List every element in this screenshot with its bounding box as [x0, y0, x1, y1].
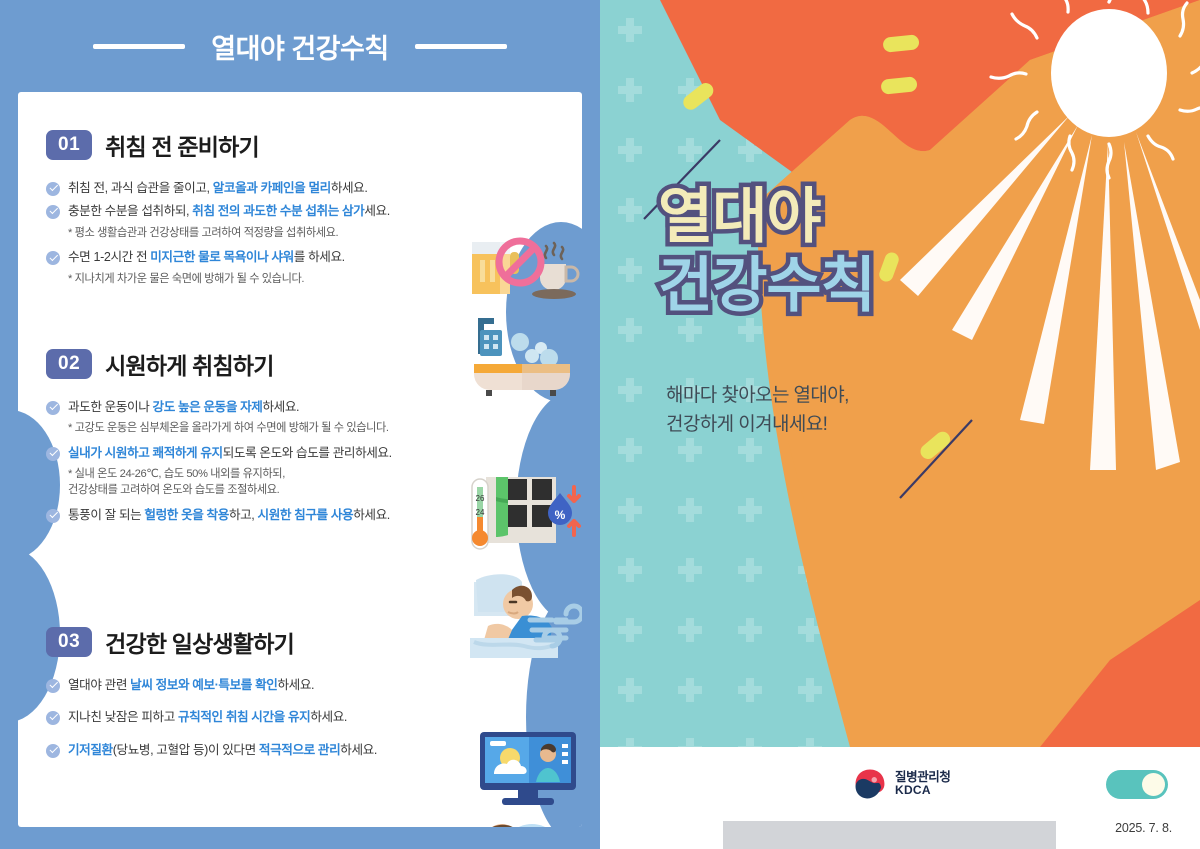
list-item: 지나친 낮잠은 피하고 규칙적인 취침 시간을 유지하세요.: [46, 708, 466, 726]
section-01-header: 01 취침 전 준비하기: [46, 128, 446, 162]
hero-subtitle: 해마다 찾아오는 열대야, 건강하게 이겨내세요!: [666, 382, 849, 439]
check-circle-icon: [46, 711, 60, 725]
agency-abbreviation: KDCA: [895, 784, 951, 797]
page-title: 열대야 건강수칙: [211, 27, 388, 66]
bullet-text-post-2: 하세요.: [340, 743, 377, 757]
bullet-strong: 강도 높은 운동을 자제: [153, 400, 263, 414]
guidelines-card: 01 취침 전 준비하기 취침 전, 과식 습관을 줄이고, 알코올과 카페인을…: [18, 92, 582, 827]
footer-gray-bar: [723, 821, 1056, 849]
thermometer-window-humidity-icon: 26 24 %: [470, 477, 582, 555]
hero-subtitle-line-2: 건강하게 이겨내세요!: [666, 411, 849, 440]
svg-text:%: %: [555, 508, 566, 522]
bullet-note: * 지나치게 차가운 물은 숙면에 방해가 될 수 있습니다.: [68, 272, 446, 288]
left-panel-header: 열대야 건강수칙: [0, 0, 600, 92]
list-item: 수면 1-2시간 전 미지근한 물로 목욕이나 샤워를 하세요.: [46, 248, 446, 266]
section-03-number: 03: [46, 627, 92, 657]
section-03-bullets: 열대야 관련 날씨 정보와 예보·특보를 확인하세요. 지나친 낮잠은 피하고 …: [46, 676, 466, 759]
hero-title-line-2: 건강수칙: [658, 254, 875, 317]
check-circle-icon: [46, 251, 60, 265]
section-02-bullets: 과도한 운동이나 강도 높은 운동을 자제하세요. * 고강도 운동은 심부체온…: [46, 398, 466, 524]
bullet-text-post: 하세요.: [263, 400, 300, 414]
bullet-text: 취침 전, 과식 습관을 줄이고,: [68, 181, 213, 195]
bullet-text-post: 하고,: [229, 508, 258, 522]
toggle-switch-on-icon[interactable]: [1106, 770, 1168, 799]
section-03-title: 건강한 일상생활하기: [105, 625, 294, 659]
section-02-title: 시원하게 취침하기: [105, 347, 273, 381]
kdca-logo-block: 질병관리청 KDCA: [853, 767, 951, 801]
list-item: 충분한 수분을 섭취하되, 취침 전의 과도한 수분 섭취는 삼가세요.: [46, 202, 446, 220]
header-dash-right-icon: [415, 44, 507, 49]
bullet-text-post: 세요.: [364, 204, 389, 218]
hero-subtitle-line-1: 해마다 찾아오는 열대야,: [666, 382, 849, 411]
section-01-title: 취침 전 준비하기: [105, 128, 259, 162]
bullet-text-post: 하세요.: [277, 678, 314, 692]
bullet-text-post: 하세요.: [310, 710, 347, 724]
bullet-strong-2: 시원한 침구를 사용: [258, 508, 354, 522]
svg-text:24: 24: [476, 508, 485, 517]
svg-text:26: 26: [476, 494, 485, 503]
section-01: 01 취침 전 준비하기 취침 전, 과식 습관을 줄이고, 알코올과 카페인을…: [46, 128, 446, 295]
header-dash-left-icon: [93, 44, 185, 49]
check-circle-icon: [46, 401, 60, 415]
check-circle-icon: [46, 509, 60, 523]
poster-root: 열대야 건강수칙 01 취침 전 준비하기 취침 전, 과식 습관을 줄이고, …: [0, 0, 1200, 849]
hero-title: 열대야 건강수칙: [658, 185, 875, 317]
bullet-text: 과도한 운동이나: [68, 400, 153, 414]
section-02-number: 02: [46, 349, 92, 379]
bullet-text: 열대야 관련: [68, 678, 130, 692]
bullet-text-post: 하세요.: [331, 181, 368, 195]
section-03-header: 03 건강한 일상생활하기: [46, 625, 466, 659]
bullet-note: * 실내 온도 24-26℃, 습도 50% 내외를 유지하되, 건강상태를 고…: [68, 467, 466, 499]
weather-broadcast-tv-icon: [480, 732, 576, 806]
section-02-header: 02 시원하게 취침하기: [46, 347, 466, 381]
bullet-text-post: 를 하세요.: [294, 250, 345, 264]
bullet-strong: 기저질환: [68, 743, 113, 757]
agency-name: 질병관리청: [895, 770, 951, 784]
bullet-text: 수면 1-2시간 전: [68, 250, 150, 264]
list-item: 통풍이 잘 되는 헐렁한 옷을 착용하고, 시원한 침구를 사용하세요.: [46, 506, 466, 524]
bullet-strong-2: 적극적으로 관리: [259, 743, 340, 757]
section-01-bullets: 취침 전, 과식 습관을 줄이고, 알코올과 카페인을 멀리하세요. 충분한 수…: [46, 179, 446, 288]
check-circle-icon: [46, 744, 60, 758]
left-panel: 열대야 건강수칙 01 취침 전 준비하기 취침 전, 과식 습관을 줄이고, …: [0, 0, 600, 849]
sleeping-person-fan-icon: [470, 564, 582, 658]
check-circle-icon: [46, 447, 60, 461]
kdca-text: 질병관리청 KDCA: [895, 770, 951, 797]
publish-date: 2025. 7. 8.: [1115, 821, 1172, 835]
check-circle-icon: [46, 679, 60, 693]
bullet-strong: 규칙적인 취침 시간을 유지: [178, 710, 310, 724]
bullet-note: * 고강도 운동은 심부체온을 올라가게 하여 수면에 방해가 될 수 있습니다…: [68, 421, 466, 437]
bullet-strong: 취침 전의 과도한 수분 섭취는 삼가: [192, 204, 364, 218]
list-item: 과도한 운동이나 강도 높은 운동을 자제하세요.: [46, 398, 466, 416]
section-02: 02 시원하게 취침하기 과도한 운동이나 강도 높은 운동을 자제하세요. *…: [46, 347, 466, 529]
list-item: 열대야 관련 날씨 정보와 예보·특보를 확인하세요.: [46, 676, 466, 694]
bullet-note: * 평소 생활습관과 건강상태를 고려하여 적정량을 섭취하세요.: [68, 226, 446, 242]
list-item: 실내가 시원하고 쾌적하게 유지되도록 온도와 습도를 관리하세요.: [46, 444, 466, 462]
kdca-taegeuk-logo: [853, 767, 887, 801]
bullet-strong: 헐렁한 옷을 착용: [144, 508, 229, 522]
list-item: 취침 전, 과식 습관을 줄이고, 알코올과 카페인을 멀리하세요.: [46, 179, 446, 197]
right-panel: 열대야 건강수칙 해마다 찾아오는 열대야, 건강하게 이겨내세요! 질병관리청…: [600, 0, 1200, 849]
check-circle-icon: [46, 182, 60, 196]
section-01-number: 01: [46, 130, 92, 160]
no-alcohol-coffee-icon: [470, 234, 580, 302]
bullet-text: 통풍이 잘 되는: [68, 508, 144, 522]
section-03: 03 건강한 일상생활하기 열대야 관련 날씨 정보와 예보·특보를 확인하세요…: [46, 625, 466, 764]
bullet-text-post-2: 하세요.: [353, 508, 390, 522]
bullet-strong: 날씨 정보와 예보·특보를 확인: [130, 678, 277, 692]
bullet-strong: 실내가 시원하고 쾌적하게 유지: [68, 446, 223, 460]
bullet-strong: 미지근한 물로 목욕이나 샤워: [150, 250, 294, 264]
check-circle-icon: [46, 205, 60, 219]
bullet-text: 충분한 수분을 섭취하되,: [68, 204, 192, 218]
bullet-strong: 알코올과 카페인을 멀리: [213, 181, 331, 195]
bullet-text-post: 되도록 온도와 습도를 관리하세요.: [223, 446, 392, 460]
bullet-text-post: (당뇨병, 고혈압 등)이 있다면: [113, 743, 259, 757]
hero-title-line-1: 열대야: [658, 185, 875, 248]
bullet-text: 지나친 낮잠은 피하고: [68, 710, 178, 724]
list-item: 기저질환(당뇨병, 고혈압 등)이 있다면 적극적으로 관리하세요.: [46, 741, 466, 759]
bathtub-shower-icon: [470, 310, 576, 398]
doctor-chart-heart-icon: [470, 814, 582, 827]
